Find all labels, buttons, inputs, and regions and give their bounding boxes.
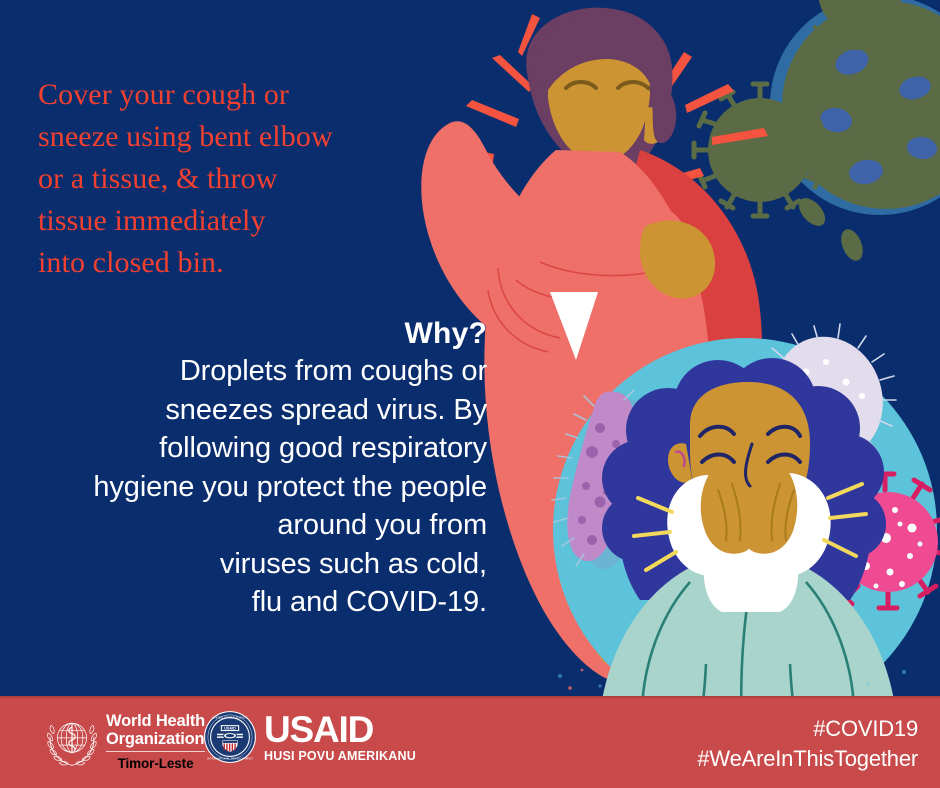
why-line-6: viruses such as cold, [17,545,487,584]
why-line-2: sneezes spread virus. By [17,391,487,430]
headline-line-1: Cover your cough or [38,74,458,116]
poster-root: Cover your cough or sneeze using bent el… [0,0,940,788]
who-line-1: World Health [106,712,205,730]
who-wordmark: World Health Organization [106,712,205,748]
who-emblem-icon [46,716,98,768]
who-line-2: Organization [106,730,205,748]
headline-line-5: into closed bin. [38,242,458,284]
headline-line-3: or a tissue, & throw [38,158,458,200]
who-logo: World Health Organization Timor-Leste [46,712,205,771]
hashtag-covid19: #COVID19 [697,714,918,744]
why-line-5: around you from [17,506,487,545]
why-line-4: hygiene you protect the people [17,468,487,507]
headline-line-4: tissue immediately [38,200,458,242]
why-line-7: flu and COVID-19. [17,583,487,622]
why-heading: Why? [17,316,487,352]
headline-line-2: sneeze using bent elbow [38,116,458,158]
why-block: Why? Droplets from coughs or sneezes spr… [17,316,487,622]
usaid-tagline: HUSI POVU AMERIKANU [264,749,416,763]
svg-text:UNITED STATES AGENCY: UNITED STATES AGENCY [212,716,247,720]
usaid-logo: USAID UNITED STATES AGENCY INTERNATI [203,710,416,764]
usaid-wordmark: USAID [264,712,416,748]
hashtag-wearinthistogether: #WeAreInThisTogether [697,744,918,774]
headline-text: Cover your cough or sneeze using bent el… [38,74,458,284]
why-body-text: Droplets from coughs or sneezes spread v… [17,352,487,622]
usaid-seal-icon: USAID UNITED STATES AGENCY INTERNATI [203,710,257,764]
svg-text:INTERNATIONAL DEVELOPMENT: INTERNATIONAL DEVELOPMENT [207,757,253,761]
who-wordmark-block: World Health Organization Timor-Leste [106,712,205,771]
hashtag-block: #COVID19 #WeAreInThisTogether [697,714,918,774]
usaid-wordmark-block: USAID HUSI POVU AMERIKANU [264,712,416,763]
who-country-label: Timor-Leste [106,751,205,771]
svg-text:USAID: USAID [224,726,236,730]
why-line-3: following good respiratory [17,429,487,468]
footer-divider [0,696,940,698]
why-line-1: Droplets from coughs or [17,352,487,391]
